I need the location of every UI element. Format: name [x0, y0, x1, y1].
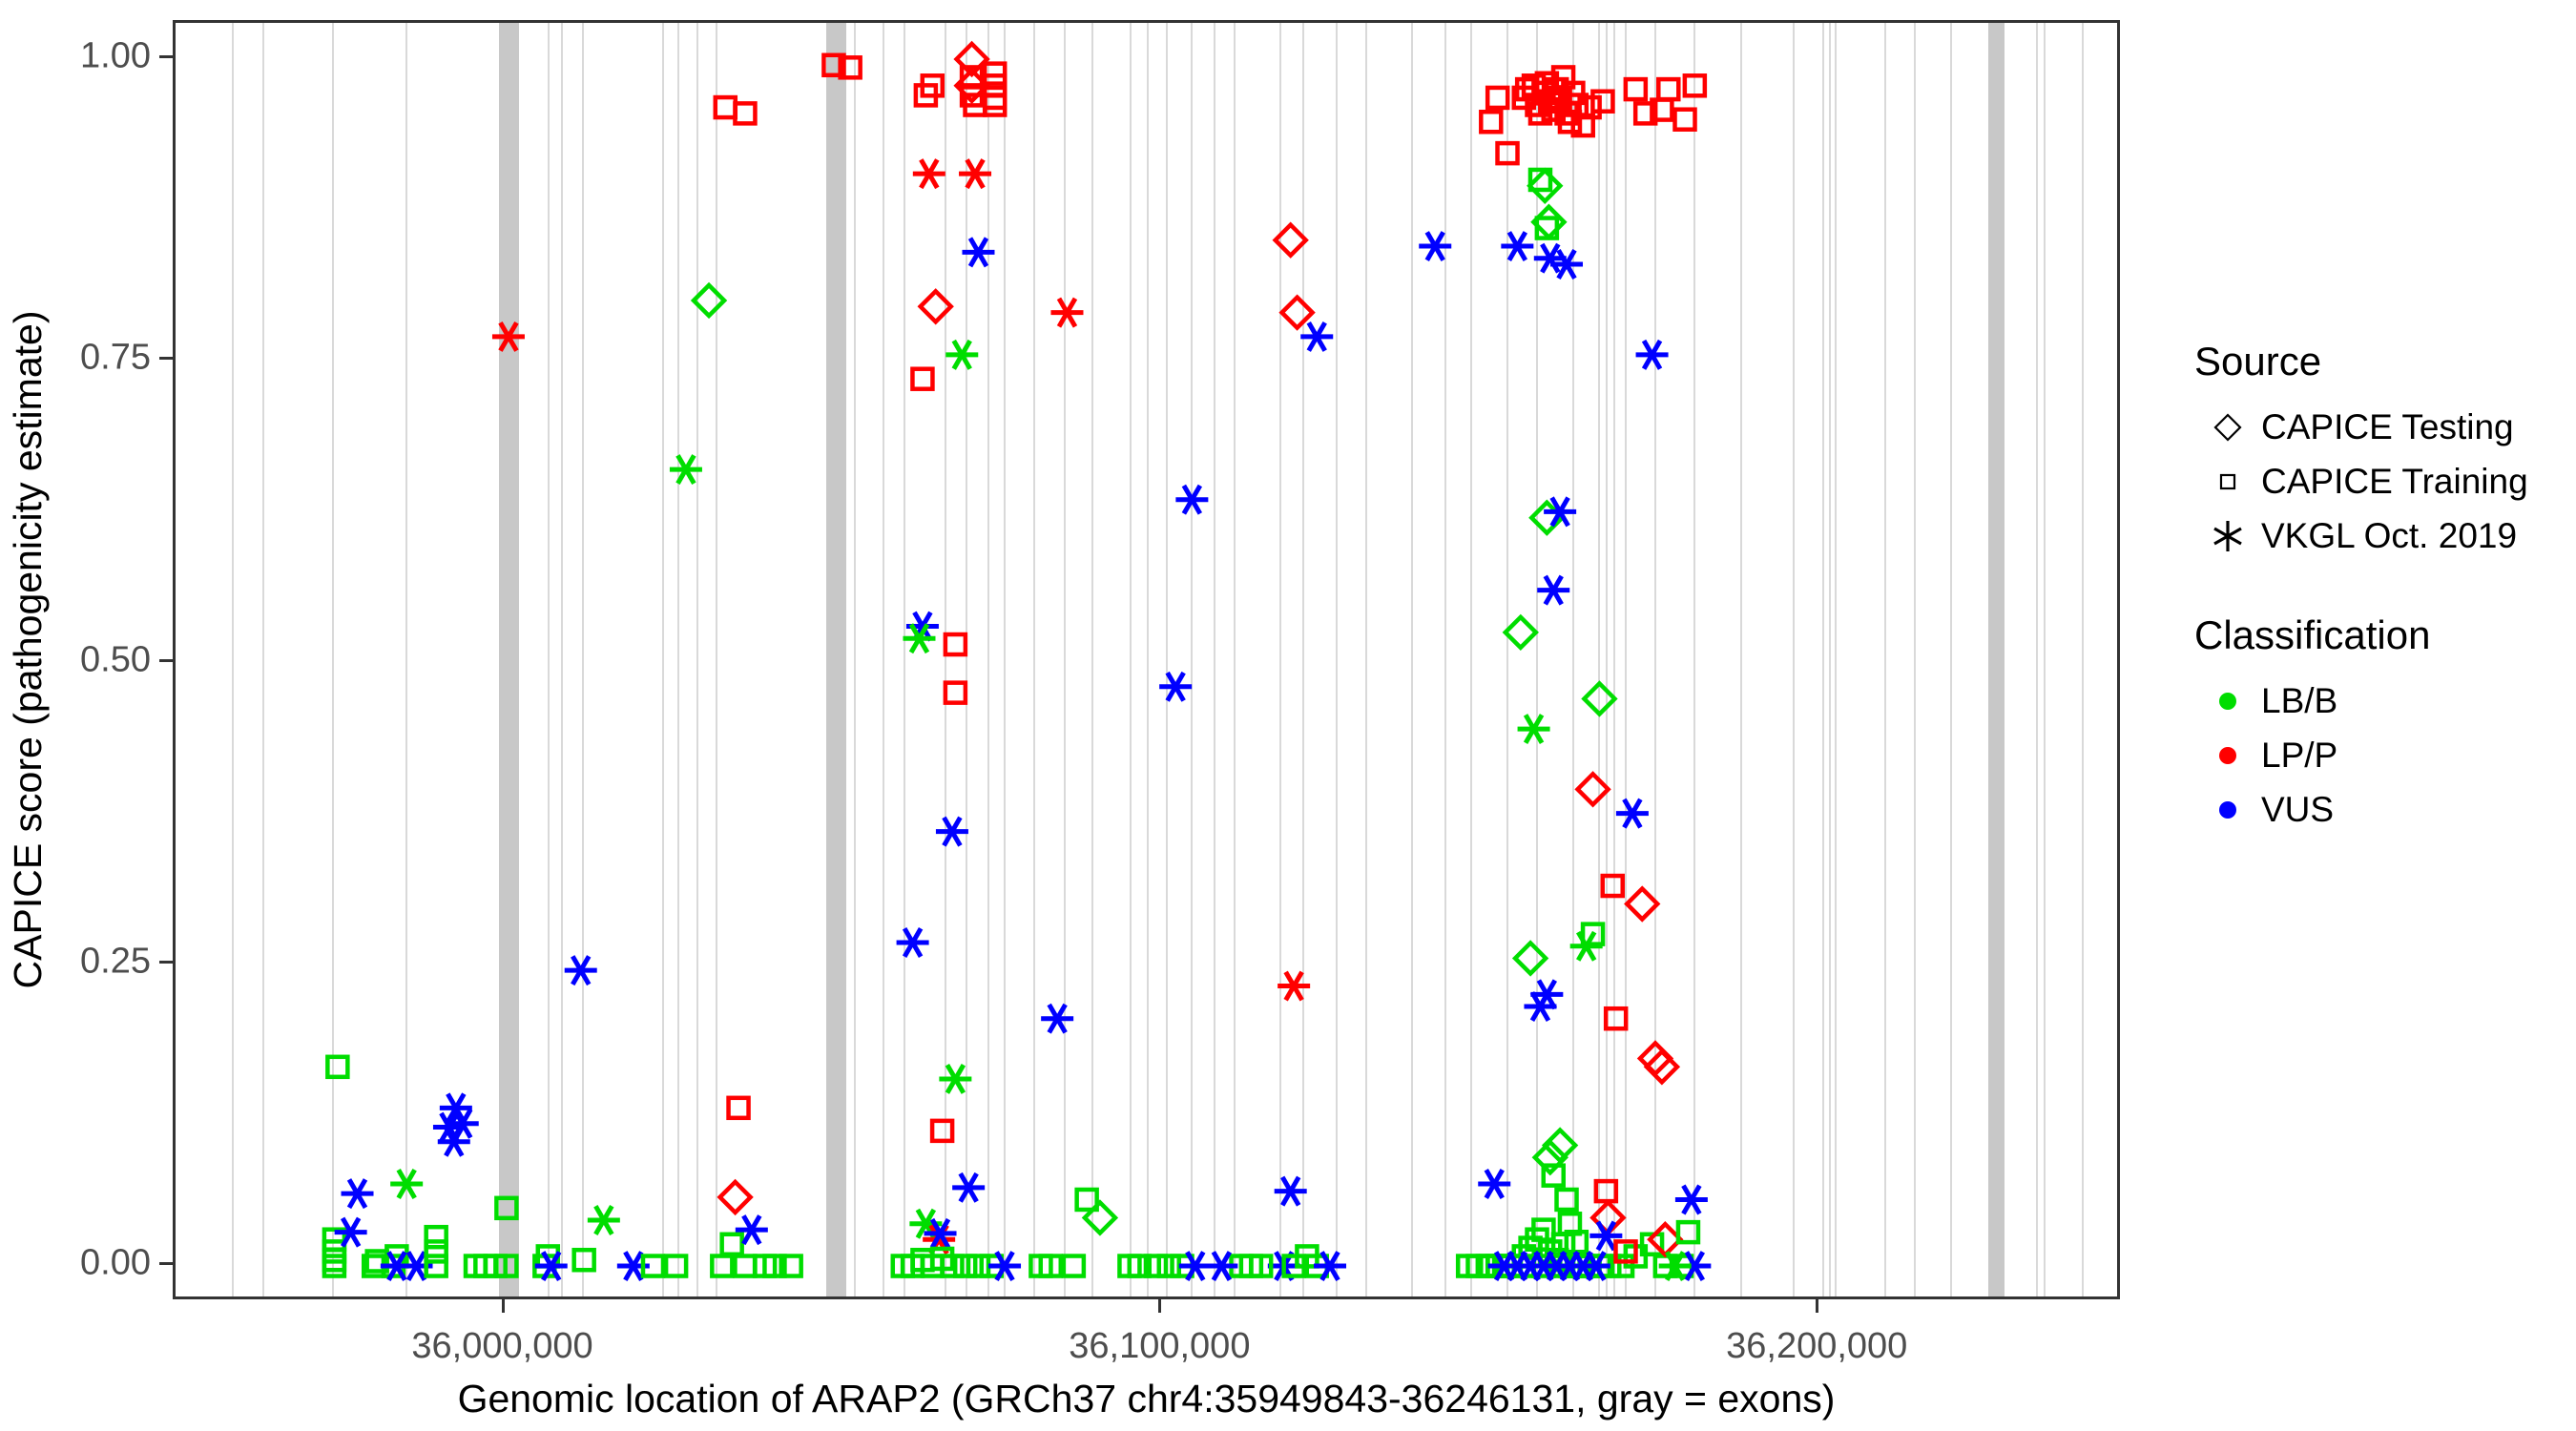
square-icon	[2194, 466, 2261, 498]
marker-square	[985, 95, 1005, 115]
marker-asterisk	[1518, 715, 1550, 742]
marker-square	[426, 1241, 447, 1261]
marker-asterisk	[565, 956, 597, 984]
marker-asterisk	[1478, 1170, 1510, 1197]
marker-square	[722, 1234, 742, 1255]
marker-asterisk	[1278, 972, 1310, 1000]
legend-item-capice-training[interactable]: CAPICE Training	[2194, 454, 2576, 508]
legend-label: CAPICE Training	[2261, 462, 2528, 502]
marker-square	[1596, 1181, 1616, 1201]
circle-icon	[2194, 739, 2261, 772]
marker-square	[666, 1256, 686, 1276]
marker-square	[945, 634, 966, 654]
marker-diamond	[720, 1182, 751, 1213]
legend-item-vus[interactable]: VUS	[2194, 782, 2576, 837]
marker-square	[1606, 1008, 1626, 1028]
marker-square	[735, 1256, 755, 1276]
marker-asterisk	[390, 1170, 423, 1197]
plot-panel	[173, 20, 2120, 1299]
legend-label: LP/P	[2261, 736, 2337, 776]
y-tick-mark	[159, 961, 173, 964]
legend-spacer	[2194, 563, 2576, 612]
diamond-icon	[2194, 411, 2261, 444]
legend-label: LB/B	[2261, 681, 2337, 721]
x-tick-label: 36,100,000	[968, 1326, 1350, 1367]
data-markers-layer	[176, 23, 2117, 1296]
marker-asterisk	[1041, 1005, 1073, 1032]
y-tick-label: 0.50	[0, 639, 151, 680]
marker-square	[1064, 1256, 1084, 1276]
legend-label: VUS	[2261, 790, 2334, 830]
marker-asterisk	[952, 1173, 985, 1201]
legend-item-lbb[interactable]: LB/B	[2194, 674, 2576, 728]
marker-square	[712, 1256, 732, 1276]
marker-asterisk	[1550, 250, 1583, 278]
marker-square	[1685, 75, 1705, 95]
marker-diamond	[1650, 1224, 1680, 1255]
marker-square	[955, 1256, 975, 1276]
y-tick-mark	[159, 55, 173, 58]
x-tick-mark	[1158, 1299, 1161, 1313]
marker-square	[1487, 88, 1507, 108]
marker-asterisk	[588, 1206, 620, 1234]
marker-diamond	[921, 291, 951, 321]
x-axis-label: Genomic location of ARAP2 (GRCh37 chr4:3…	[173, 1377, 2120, 1421]
marker-square	[1159, 1256, 1179, 1276]
marker-square	[426, 1227, 447, 1247]
marker-square	[1626, 79, 1646, 99]
marker-square	[574, 1250, 594, 1270]
x-tick-mark	[1816, 1299, 1818, 1313]
marker-square	[1498, 143, 1518, 163]
marker-square	[1658, 79, 1678, 99]
marker-asterisk	[959, 159, 991, 187]
marker-diamond	[1529, 171, 1560, 201]
marker-square	[1592, 92, 1612, 112]
marker-asterisk	[939, 1065, 971, 1092]
marker-asterisk	[1616, 799, 1649, 827]
marker-asterisk	[342, 1179, 374, 1207]
marker-asterisk	[962, 238, 994, 266]
y-tick-mark	[159, 1262, 173, 1265]
marker-diamond	[1276, 225, 1306, 256]
circle-icon	[2194, 685, 2261, 717]
marker-square	[716, 97, 736, 117]
marker-asterisk	[1537, 576, 1569, 604]
marker-asterisk	[1275, 1177, 1307, 1205]
marker-square	[1675, 110, 1695, 130]
marker-asterisk	[1501, 232, 1533, 259]
asterisk-icon	[2194, 517, 2261, 555]
marker-diamond	[694, 285, 724, 316]
marker-diamond	[1584, 683, 1614, 714]
marker-diamond	[1085, 1202, 1115, 1233]
marker-asterisk	[913, 159, 945, 187]
legend-label: VKGL Oct. 2019	[2261, 516, 2517, 556]
marker-asterisk	[1050, 299, 1083, 326]
circle-icon	[2194, 794, 2261, 826]
legend-item-lpp[interactable]: LP/P	[2194, 728, 2576, 782]
marker-square	[729, 1098, 749, 1118]
scatter-markers	[176, 23, 2120, 1299]
marker-square	[1557, 1190, 1577, 1210]
legend-classification-title: Classification	[2194, 612, 2576, 658]
marker-diamond	[1627, 889, 1657, 920]
marker-square	[932, 1121, 952, 1141]
y-tick-label: 0.00	[0, 1243, 151, 1284]
marker-asterisk	[936, 818, 968, 845]
marker-asterisk	[1419, 232, 1451, 259]
marker-diamond	[1515, 943, 1546, 973]
marker-asterisk	[1300, 322, 1333, 350]
marker-square	[945, 683, 966, 703]
marker-asterisk	[1636, 341, 1669, 368]
marker-diamond	[1506, 617, 1536, 648]
marker-square	[496, 1198, 516, 1218]
legend-source-title: Source	[2194, 339, 2576, 384]
y-tick-label: 0.25	[0, 941, 151, 982]
marker-square	[735, 103, 755, 123]
legend-item-vkgl[interactable]: VKGL Oct. 2019	[2194, 508, 2576, 563]
marker-asterisk	[1675, 1186, 1708, 1213]
marker-square	[327, 1057, 347, 1077]
marker-asterisk	[945, 341, 978, 368]
marker-diamond	[1578, 774, 1609, 804]
legend-item-capice-testing[interactable]: CAPICE Testing	[2194, 400, 2576, 454]
chart-root: CAPICE score (pathogenicity estimate) 0.…	[0, 0, 2576, 1431]
marker-asterisk	[1159, 673, 1192, 700]
x-tick-label: 36,200,000	[1626, 1326, 2007, 1367]
marker-square	[324, 1256, 344, 1276]
legend-label: CAPICE Testing	[2261, 407, 2514, 447]
y-tick-mark	[159, 357, 173, 360]
x-tick-label: 36,000,000	[312, 1326, 694, 1367]
legend: Source CAPICE Testing CAPICE Training	[2194, 339, 2576, 837]
y-tick-label: 0.75	[0, 338, 151, 379]
marker-asterisk	[1175, 486, 1208, 513]
marker-square	[1603, 876, 1623, 896]
marker-square	[1481, 112, 1501, 132]
x-tick-mark	[502, 1299, 505, 1313]
marker-square	[912, 369, 932, 389]
marker-asterisk	[670, 455, 702, 483]
marker-square	[968, 1256, 988, 1276]
marker-asterisk	[897, 928, 929, 956]
y-tick-label: 1.00	[0, 35, 151, 76]
y-tick-mark	[159, 659, 173, 662]
marker-asterisk	[492, 322, 525, 350]
